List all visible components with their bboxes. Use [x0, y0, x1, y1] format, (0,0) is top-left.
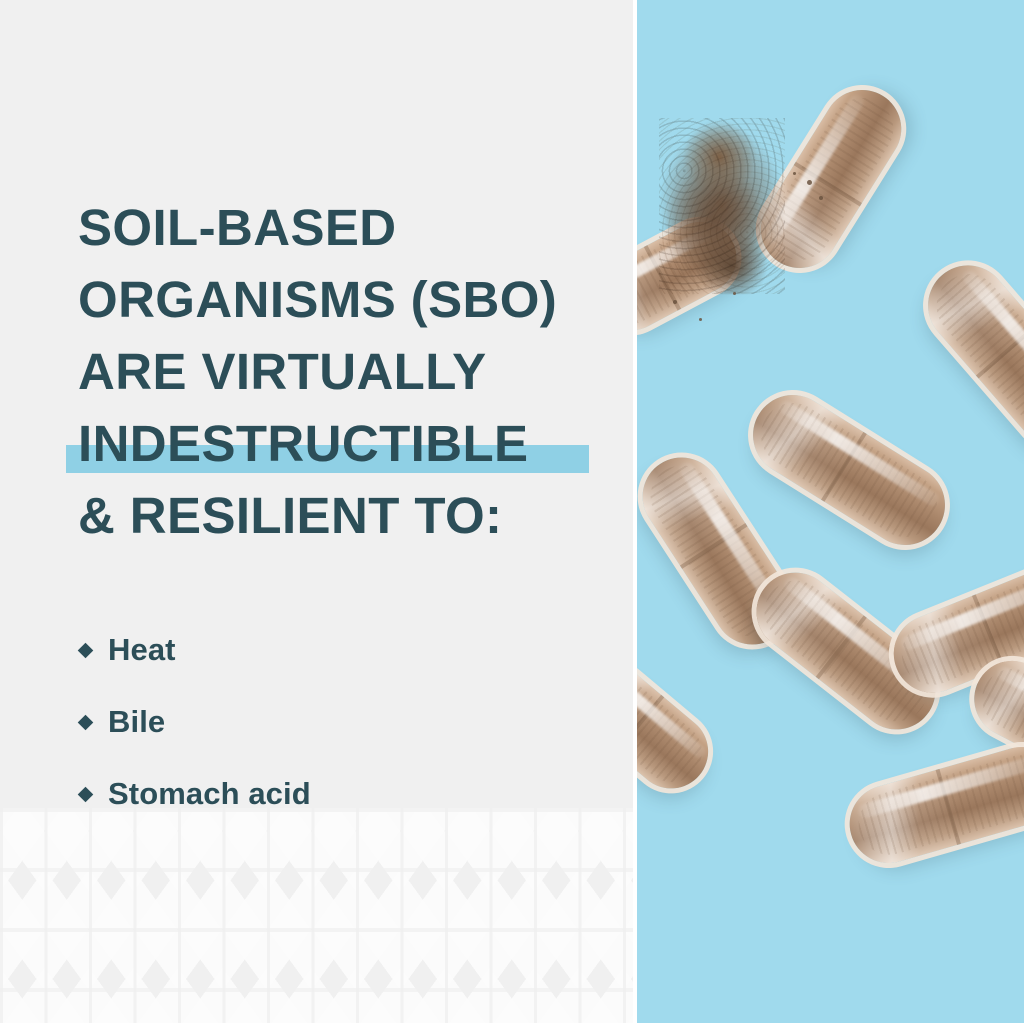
list-item: Stomach acid — [78, 758, 637, 830]
powder-speck — [673, 300, 677, 304]
capsule-grain — [749, 391, 948, 549]
list-item: Heat — [78, 614, 637, 686]
headline-line-3: ARE VIRTUALLY — [78, 336, 637, 408]
headline-line-3-text: ARE VIRTUALLY — [78, 343, 487, 400]
capsule — [637, 650, 723, 803]
headline-line-5-text: & RESILIENT TO: — [78, 487, 502, 544]
diamond-bullet-icon — [78, 786, 94, 802]
product-photo-panel — [637, 0, 1024, 1023]
powder-speck — [807, 180, 812, 185]
headline-line-1-text: SOIL-BASED — [78, 199, 397, 256]
powder-speck — [793, 172, 796, 175]
list-item-label: Heat — [108, 632, 176, 668]
headline-line-4: INDESTRUCTIBLE — [78, 408, 637, 480]
capsules-photo — [637, 0, 1024, 1023]
chevron-pattern-rows — [0, 808, 637, 1023]
capsule — [840, 738, 1024, 873]
headline-line-2-text: ORGANISMS (SBO) — [78, 271, 557, 328]
text-panel: SOIL-BASED ORGANISMS (SBO) ARE VIRTUALLY… — [0, 0, 637, 1023]
infographic-canvas: SOIL-BASED ORGANISMS (SBO) ARE VIRTUALLY… — [0, 0, 1024, 1023]
powder-speck — [699, 318, 702, 321]
resilience-list: Heat Bile Stomach acid — [78, 614, 637, 830]
capsule-grain — [851, 748, 1024, 863]
headline-line-1: SOIL-BASED — [78, 192, 637, 264]
list-item: Bile — [78, 686, 637, 758]
list-item-label: Stomach acid — [108, 776, 311, 812]
capsule — [912, 249, 1024, 463]
capsule-grain — [923, 261, 1024, 452]
headline-line-4-text: INDESTRUCTIBLE — [78, 415, 528, 472]
powder-texture — [659, 118, 785, 294]
capsule-grain — [637, 660, 714, 794]
text-panel-content: SOIL-BASED ORGANISMS (SBO) ARE VIRTUALLY… — [0, 0, 637, 830]
diamond-bullet-icon — [78, 642, 94, 658]
powder-speck — [819, 196, 823, 200]
powder-speck — [733, 292, 736, 295]
panel-divider — [633, 0, 637, 1023]
diamond-bullet-icon — [78, 714, 94, 730]
list-item-label: Bile — [108, 704, 165, 740]
headline-line-5: & RESILIENT TO: — [78, 480, 637, 552]
capsule — [738, 380, 960, 560]
headline-line-2: ORGANISMS (SBO) — [78, 264, 637, 336]
headline: SOIL-BASED ORGANISMS (SBO) ARE VIRTUALLY… — [78, 192, 637, 552]
